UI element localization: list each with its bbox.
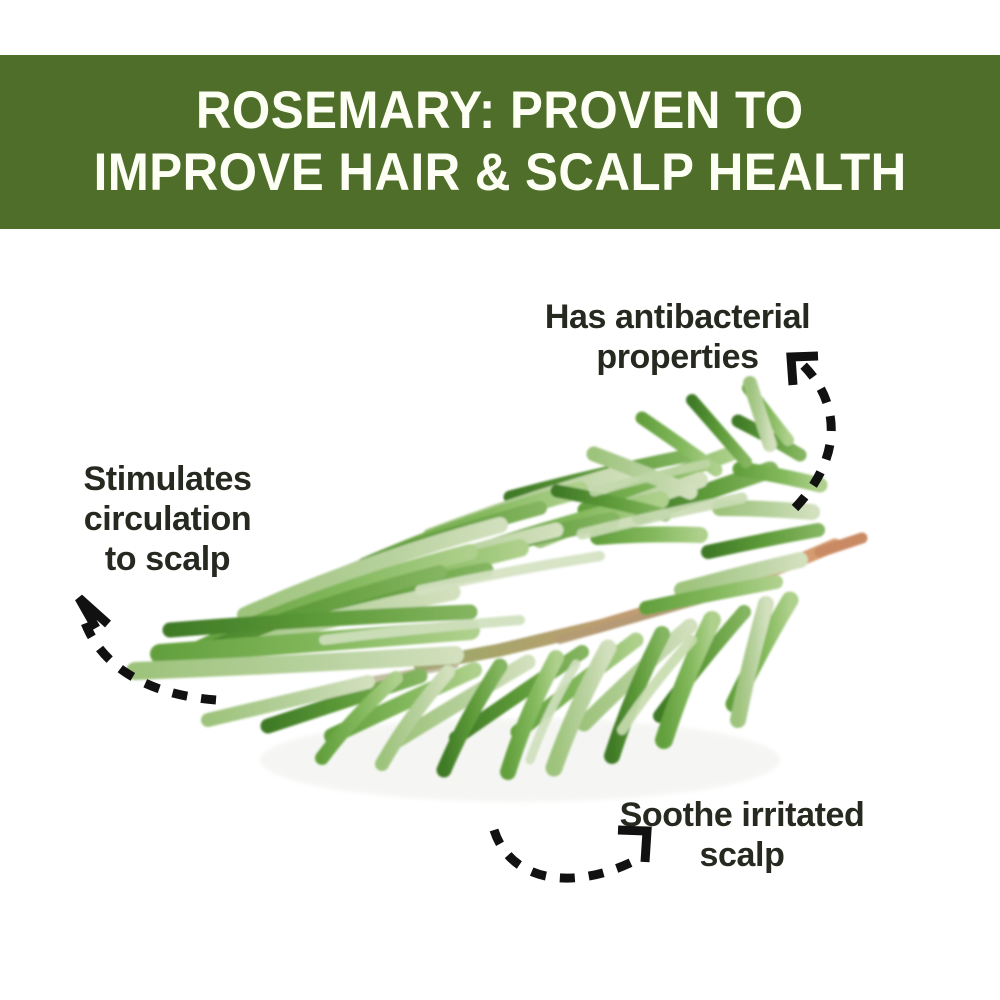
arrow-circulation-head xyxy=(79,598,108,628)
arrow-antibacterial-curve xyxy=(795,362,831,508)
callout-soothe-line-1: Soothe irritated xyxy=(592,795,892,835)
callout-antibacterial-line-1: Has antibacterial xyxy=(500,297,855,337)
callout-circulation: Stimulates circulation to scalp xyxy=(45,459,290,579)
header-banner: ROSEMARY: PROVEN TO IMPROVE HAIR & SCALP… xyxy=(0,55,1000,229)
callout-circulation-line-1: Stimulates xyxy=(45,459,290,499)
headline-line-1: ROSEMARY: PROVEN TO xyxy=(196,80,804,142)
callout-circulation-line-3: to scalp xyxy=(45,539,290,579)
callout-soothe: Soothe irritated scalp xyxy=(592,795,892,875)
sprig-shadow xyxy=(260,718,780,802)
callout-antibacterial-line-2: properties xyxy=(500,337,855,377)
callout-soothe-line-2: scalp xyxy=(592,835,892,875)
callout-circulation-line-2: circulation xyxy=(45,499,290,539)
headline-line-2: IMPROVE HAIR & SCALP HEALTH xyxy=(93,142,906,204)
arrow-circulation-curve xyxy=(82,614,216,700)
callout-antibacterial: Has antibacterial properties xyxy=(500,297,855,377)
rosemary-benefits-infographic: ROSEMARY: PROVEN TO IMPROVE HAIR & SCALP… xyxy=(0,0,1000,1000)
